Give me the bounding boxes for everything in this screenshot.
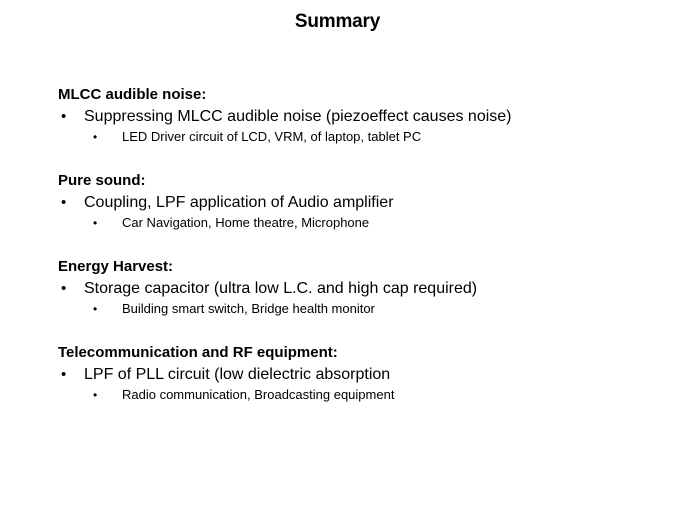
section-header: Pure sound:	[58, 171, 658, 191]
list-item-level1-label: Storage capacitor (ultra low L.C. and hi…	[84, 278, 477, 299]
list-item-level2: • Radio communication, Broadcasting equi…	[58, 385, 658, 405]
list-item-level2-label: Car Navigation, Home theatre, Microphone	[122, 213, 369, 233]
list-item-level1-label: Coupling, LPF application of Audio ampli…	[84, 192, 394, 213]
sub-bullet-marker-icon: •	[58, 385, 93, 405]
list-item-level1: • LPF of PLL circuit (low dielectric abs…	[58, 364, 658, 385]
section-energy-harvest: Energy Harvest: • Storage capacitor (ult…	[58, 257, 658, 319]
page-title: Summary	[0, 10, 675, 34]
list-item-level2: • Car Navigation, Home theatre, Micropho…	[58, 213, 658, 233]
bullet-marker-icon: •	[58, 364, 84, 385]
list-item-level1-label: Suppressing MLCC audible noise (piezoeff…	[84, 106, 512, 127]
list-item-level1-label: LPF of PLL circuit (low dielectric absor…	[84, 364, 390, 385]
bullet-marker-icon: •	[58, 106, 84, 127]
list-item-level2: • Building smart switch, Bridge health m…	[58, 299, 658, 319]
bullet-marker-icon: •	[58, 278, 84, 299]
list-item-level1: • Storage capacitor (ultra low L.C. and …	[58, 278, 658, 299]
section-header: Energy Harvest:	[58, 257, 658, 277]
list-item-level2-label: Building smart switch, Bridge health mon…	[122, 299, 375, 319]
section-header: Telecommunication and RF equipment:	[58, 343, 658, 363]
list-item-level1: • Suppressing MLCC audible noise (piezoe…	[58, 106, 658, 127]
list-item-level2: • LED Driver circuit of LCD, VRM, of lap…	[58, 127, 658, 147]
sub-bullet-marker-icon: •	[58, 213, 93, 233]
list-item-level2-label: LED Driver circuit of LCD, VRM, of lapto…	[122, 127, 421, 147]
presentation-slide: Summary MLCC audible noise: • Suppressin…	[0, 0, 675, 506]
section-mlcc-audible-noise: MLCC audible noise: • Suppressing MLCC a…	[58, 85, 658, 147]
list-item-level1: • Coupling, LPF application of Audio amp…	[58, 192, 658, 213]
section-pure-sound: Pure sound: • Coupling, LPF application …	[58, 171, 658, 233]
list-item-level2-label: Radio communication, Broadcasting equipm…	[122, 385, 394, 405]
slide-body: MLCC audible noise: • Suppressing MLCC a…	[58, 85, 658, 405]
section-header: MLCC audible noise:	[58, 85, 658, 105]
bullet-marker-icon: •	[58, 192, 84, 213]
sub-bullet-marker-icon: •	[58, 299, 93, 319]
sub-bullet-marker-icon: •	[58, 127, 93, 147]
section-telecommunication-rf: Telecommunication and RF equipment: • LP…	[58, 343, 658, 405]
